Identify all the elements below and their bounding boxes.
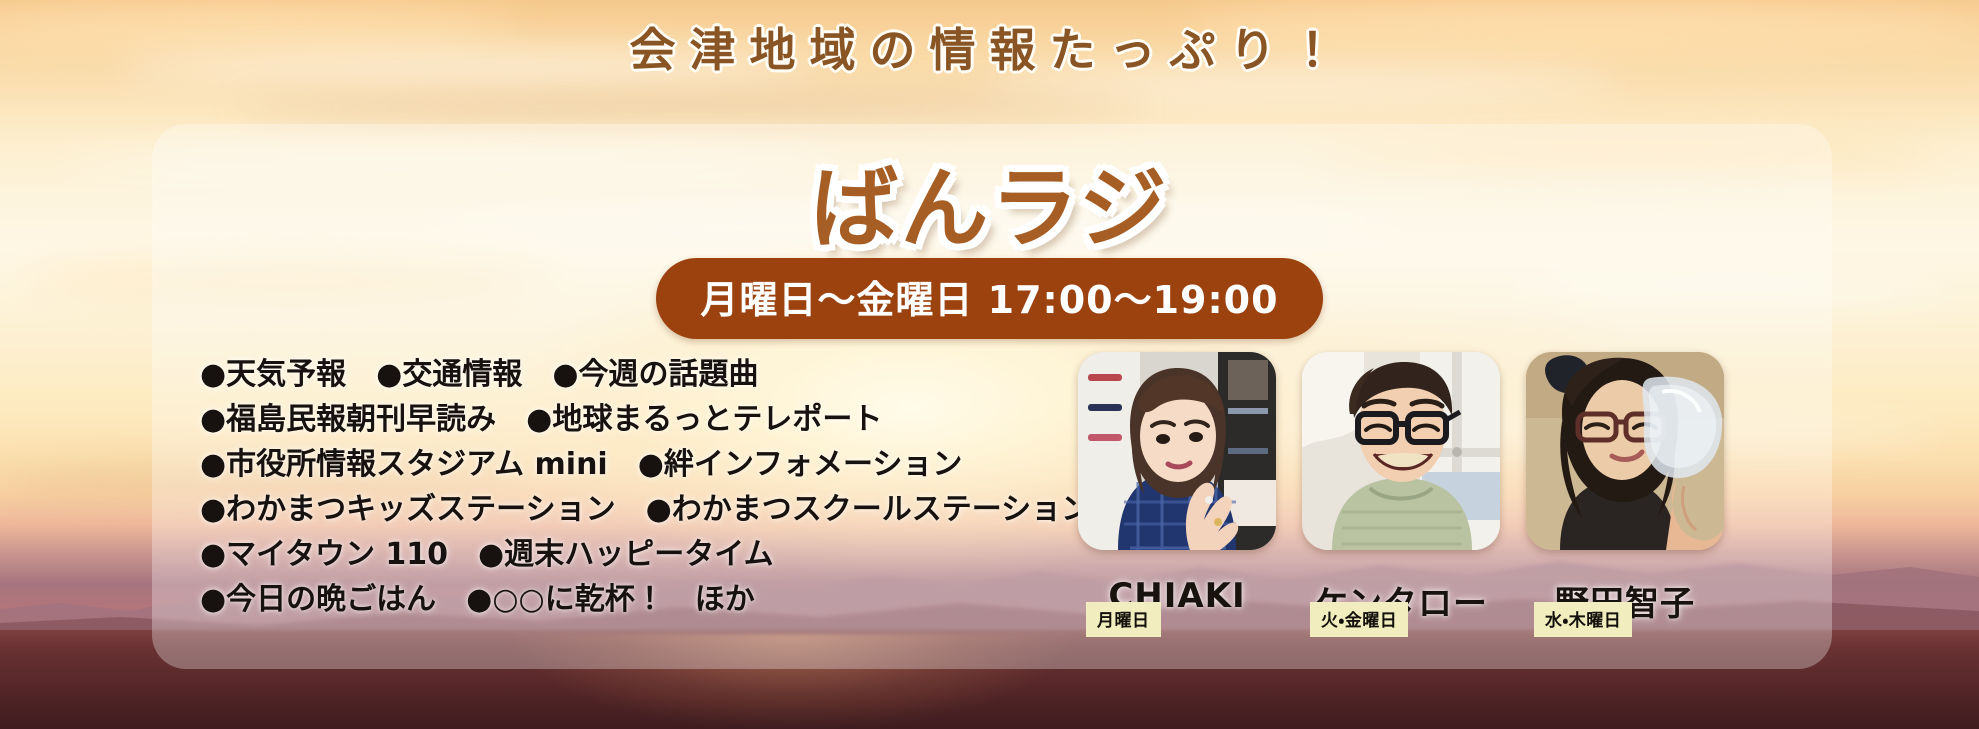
list-item: ●市役所情報スタジアム mini ●絆インフォメーション	[200, 442, 1060, 487]
schedule-badge-wrap: 月曜日〜金曜日 17:00〜19:00	[0, 258, 1979, 339]
day-tag: 月曜日	[1086, 602, 1161, 637]
personality-card: 月曜日 CHIAKI	[1078, 352, 1276, 625]
page-title: ばんラジ	[0, 138, 1979, 265]
list-item: ●福島民報朝刊早読み ●地球まるっとテレポート	[200, 397, 1060, 442]
list-item: ●わかまつキッズステーション ●わかまつスクールステーション	[200, 487, 1060, 532]
avatar	[1078, 352, 1276, 550]
day-tag: 水・木曜日	[1534, 602, 1632, 637]
personality-card: 水・木曜日 野田智子	[1526, 352, 1724, 625]
program-list: ●天気予報 ●交通情報 ●今週の話題曲 ●福島民報朝刊早読み ●地球まるっとテレ…	[200, 352, 1060, 622]
list-item: ●今日の晩ごはん ●○○に乾杯！ ほか	[200, 577, 1060, 622]
radio-program-banner: 会津地域の情報たっぷり！ ばんラジ 月曜日〜金曜日 17:00〜19:00 ●天…	[0, 0, 1979, 729]
avatar	[1526, 352, 1724, 550]
day-tag: 火・金曜日	[1310, 602, 1408, 637]
list-item: ●天気予報 ●交通情報 ●今週の話題曲	[200, 352, 1060, 397]
schedule-badge: 月曜日〜金曜日 17:00〜19:00	[656, 258, 1322, 339]
list-item: ●マイタウン 110 ●週末ハッピータイム	[200, 532, 1060, 577]
avatar	[1302, 352, 1500, 550]
personality-card: 火・金曜日 ケンタロー	[1302, 352, 1500, 625]
page-headline: 会津地域の情報たっぷり！	[0, 14, 1979, 80]
personality-list: 月曜日 CHIAKI	[1078, 352, 1724, 625]
